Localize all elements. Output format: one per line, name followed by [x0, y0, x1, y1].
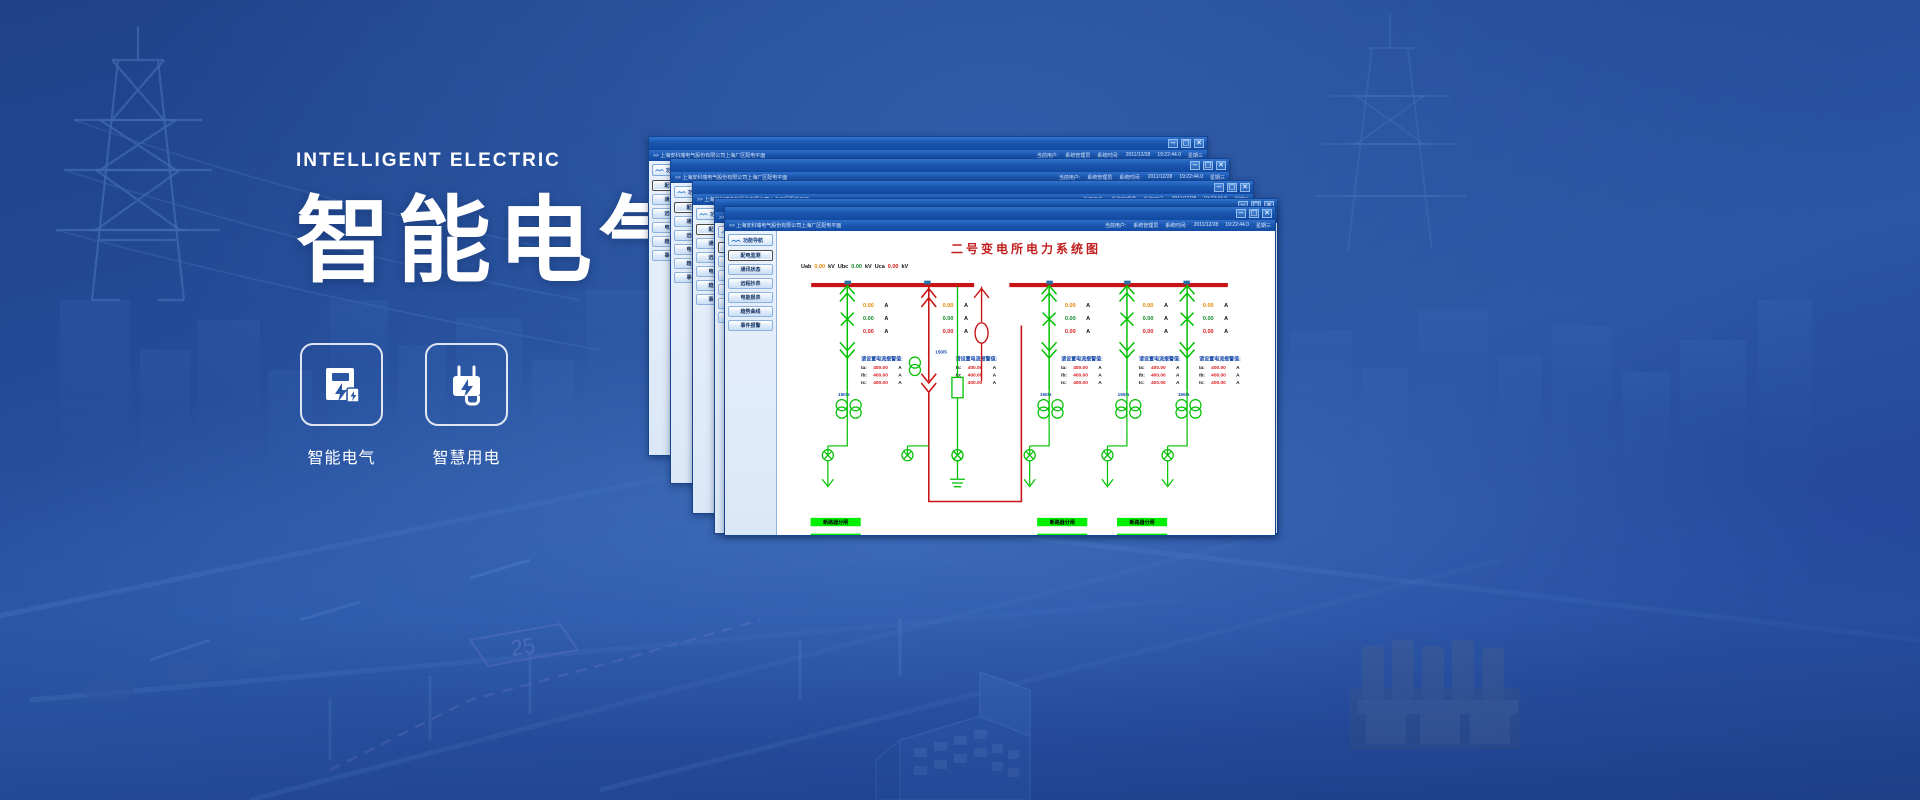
svg-text:A: A	[1176, 365, 1180, 371]
svg-text:Ic:: Ic:	[1061, 380, 1067, 386]
svg-text:0.00: 0.00	[863, 303, 874, 309]
svg-text:400.00: 400.00	[1151, 380, 1166, 386]
svg-text:0.00: 0.00	[943, 316, 954, 322]
svg-text:400.00: 400.00	[1073, 380, 1088, 386]
book-icon	[699, 210, 708, 218]
ubc-label: Ubc	[838, 264, 848, 270]
ubc-unit: kV	[865, 264, 872, 270]
svg-text:Ic:: Ic:	[861, 380, 867, 386]
diagram-title: 二号变电所电力系统图	[777, 240, 1275, 257]
uca-unit: kV	[902, 264, 909, 270]
window-body: >> 上海安科瑞电气股份有限公司上海厂区配电平面 当前用户: 系统管理员 系统时…	[725, 220, 1275, 535]
svg-text:A: A	[1236, 365, 1240, 371]
svg-text:400.00: 400.00	[1211, 380, 1226, 386]
svg-text:请设置电流报警值:: 请设置电流报警值:	[1139, 356, 1181, 363]
svg-text:A: A	[964, 303, 968, 309]
svg-text:A: A	[1224, 316, 1228, 322]
svg-text:0.00: 0.00	[1143, 316, 1154, 322]
svg-text:A: A	[964, 329, 968, 335]
window-titlebar[interactable]: − □ ✕	[671, 159, 1229, 172]
close-icon[interactable]: ✕	[1240, 183, 1250, 192]
svg-text:0.00: 0.00	[863, 329, 874, 335]
uca-label: Uca	[875, 264, 885, 270]
uca-value: 0.00	[888, 264, 899, 270]
sidebar: 功能导航 配电监测 通讯状态 远程抄表 电能报表 趋势曲线 事件报警	[725, 231, 777, 535]
maximize-icon[interactable]: □	[1227, 183, 1237, 192]
svg-text:A: A	[964, 316, 968, 322]
svg-text:Ia:: Ia:	[861, 365, 867, 371]
sidebar-item-event-alarm[interactable]: 事件报警	[728, 320, 773, 331]
svg-text:A: A	[1098, 365, 1102, 371]
svg-text:A: A	[1236, 380, 1240, 386]
svg-text:Ib:: Ib:	[1199, 372, 1205, 378]
svg-text:A: A	[1176, 372, 1180, 378]
sidebar-item-energy-report[interactable]: 电能报表	[728, 292, 773, 303]
svg-text:A: A	[884, 303, 888, 309]
feature-label: 智慧用电	[425, 444, 508, 468]
svg-text:Ia:: Ia:	[1139, 365, 1145, 371]
svg-text:请设置电流报警值:: 请设置电流报警值:	[1061, 356, 1103, 363]
svg-text:400.00: 400.00	[873, 380, 888, 386]
svg-text:Ic:: Ic:	[1199, 380, 1205, 386]
minimize-icon[interactable]: −	[1214, 183, 1224, 192]
status-user-value: 系统管理员	[1133, 222, 1158, 229]
svg-text:400.00: 400.00	[1073, 372, 1088, 378]
power-plug-icon	[443, 361, 491, 409]
application-window-stack: − □ ✕ >> 上海安科瑞电气股份有限公司上海厂区配电平面 当前用户: 系统管…	[648, 136, 1288, 536]
svg-text:400.00: 400.00	[968, 365, 983, 371]
feature-item-smart-power[interactable]: 智慧用电	[425, 343, 508, 468]
svg-text:A: A	[1164, 316, 1168, 322]
status-time: 19:22:44.0	[1225, 222, 1249, 229]
svg-text:150/5: 150/5	[1178, 392, 1190, 397]
svg-text:A: A	[1176, 380, 1180, 386]
book-icon	[677, 188, 686, 196]
svg-text:A: A	[1164, 303, 1168, 309]
svg-text:请设置电流报警值:: 请设置电流报警值:	[1199, 356, 1241, 363]
svg-text:0.00: 0.00	[1203, 316, 1214, 322]
close-icon[interactable]: ✕	[1262, 209, 1272, 218]
svg-text:断路器分闸: 断路器分闸	[1050, 519, 1075, 526]
book-icon	[731, 236, 741, 245]
sidebar-item-trend-curve[interactable]: 趋势曲线	[728, 306, 773, 317]
svg-text:A: A	[1098, 380, 1102, 386]
status-user-label: 当前用户:	[1105, 222, 1126, 229]
svg-text:400.00: 400.00	[873, 365, 888, 371]
svg-text:400.00: 400.00	[1151, 365, 1166, 371]
uab-unit: kV	[828, 264, 835, 270]
svg-text:0.00: 0.00	[1203, 303, 1214, 309]
svg-text:150/5: 150/5	[1040, 392, 1052, 397]
svg-text:A: A	[884, 329, 888, 335]
svg-text:A: A	[1224, 303, 1228, 309]
status-time-label: 系统时间:	[1165, 222, 1186, 229]
sidebar-item-remote-meter[interactable]: 远程抄表	[728, 278, 773, 289]
svg-text:Ia:: Ia:	[1061, 365, 1067, 371]
window-titlebar[interactable]: − □ ✕	[693, 181, 1253, 194]
svg-text:400.00: 400.00	[873, 372, 888, 378]
svg-text:A: A	[1086, 303, 1090, 309]
window-inner: 功能导航 配电监测 通讯状态 远程抄表 电能报表 趋势曲线 事件报警	[725, 231, 1275, 535]
feature-icon-box	[425, 343, 508, 426]
window-titlebar[interactable]: − □ ✕	[649, 137, 1207, 150]
svg-text:A: A	[1164, 329, 1168, 335]
svg-text:Ib:: Ib:	[1061, 372, 1067, 378]
svg-text:150/5: 150/5	[1118, 392, 1130, 397]
minimize-icon[interactable]: −	[1236, 209, 1246, 218]
close-icon[interactable]: ✕	[1216, 161, 1226, 170]
sidebar-item-power-monitor[interactable]: 配电监测	[728, 250, 773, 261]
book-icon	[655, 166, 664, 174]
svg-text:Ia:: Ia:	[956, 365, 962, 371]
svg-text:0.00: 0.00	[1065, 329, 1076, 335]
svg-text:A: A	[898, 380, 902, 386]
svg-text:400.00: 400.00	[968, 372, 983, 378]
uab-label: Uab	[801, 264, 811, 270]
status-left-text: >> 上海安科瑞电气股份有限公司上海厂区配电平面	[729, 222, 841, 229]
feature-item-intelligent-electric[interactable]: 智能电气	[300, 343, 383, 468]
svg-text:A: A	[993, 380, 997, 386]
svg-text:0.00: 0.00	[1203, 329, 1214, 335]
svg-text:0.00: 0.00	[943, 329, 954, 335]
maximize-icon[interactable]: □	[1249, 209, 1259, 218]
svg-text:A: A	[898, 365, 902, 371]
svg-text:0.00: 0.00	[1065, 303, 1076, 309]
svg-text:A: A	[1236, 372, 1240, 378]
svg-text:A: A	[1086, 329, 1090, 335]
svg-text:Ia:: Ia:	[1199, 365, 1205, 371]
svg-text:150/5: 150/5	[838, 392, 850, 397]
app-window-active[interactable]: − □ ✕ >> 上海安科瑞电气股份有限公司上海厂区配电平面 当前用户: 系统管…	[724, 206, 1276, 536]
feature-icon-box	[300, 343, 383, 426]
svg-text:请设置电流报警值:: 请设置电流报警值:	[956, 356, 998, 363]
svg-text:A: A	[993, 365, 997, 371]
svg-text:0.00: 0.00	[863, 316, 874, 322]
status-weekday: 星期三	[1256, 222, 1271, 229]
svg-text:400.00: 400.00	[968, 380, 983, 386]
nav-list: 配电监测 通讯状态 远程抄表 电能报表 趋势曲线 事件报警	[728, 250, 773, 331]
electric-meter-icon	[318, 361, 366, 409]
window-statusbar: >> 上海安科瑞电气股份有限公司上海厂区配电平面 当前用户: 系统管理员 系统时…	[725, 220, 1275, 231]
window-titlebar[interactable]: − □ ✕	[725, 207, 1275, 220]
svg-text:A: A	[898, 372, 902, 378]
svg-text:400.00: 400.00	[1151, 372, 1166, 378]
uab-value: 0.00	[814, 264, 825, 270]
status-right-group: 当前用户: 系统管理员 系统时间: 2011/12/28 19:22:44.0 …	[1105, 222, 1271, 229]
close-icon[interactable]: ✕	[1194, 139, 1204, 148]
svg-text:Ic:: Ic:	[1139, 380, 1145, 386]
svg-text:0.00: 0.00	[943, 303, 954, 309]
sidebar-item-comm-status[interactable]: 通讯状态	[728, 264, 773, 275]
nav-header-label: 功能导航	[743, 237, 763, 244]
svg-text:A: A	[1224, 329, 1228, 335]
maximize-icon[interactable]: □	[1203, 161, 1213, 170]
status-button-group[interactable]: 断路器分闸 手车试验位置 弹簧已储能 断路器分闸 手车试验位置 弹簧	[777, 516, 1275, 535]
ubc-value: 0.00	[851, 264, 862, 270]
feature-label: 智能电气	[300, 444, 383, 468]
svg-text:断路器分闸: 断路器分闸	[1130, 519, 1155, 526]
maximize-icon[interactable]: □	[1181, 139, 1191, 148]
svg-text:0.00: 0.00	[1143, 329, 1154, 335]
sld-drawing: 0.00 A 0.00 A 0.00 A 请设置电流报警值: Ia: 400.0…	[777, 270, 1275, 520]
svg-text:0.00: 0.00	[1143, 303, 1154, 309]
svg-text:断路器分闸: 断路器分闸	[823, 519, 848, 526]
svg-text:400.00: 400.00	[1073, 365, 1088, 371]
svg-text:A: A	[1098, 372, 1102, 378]
minimize-icon[interactable]: −	[1190, 161, 1200, 170]
status-date: 2011/12/28	[1194, 222, 1219, 229]
hero-banner: 25	[0, 0, 1920, 800]
svg-text:400.00: 400.00	[1211, 372, 1226, 378]
nav-header: 功能导航	[728, 234, 773, 246]
svg-text:A: A	[993, 372, 997, 378]
minimize-icon[interactable]: −	[1168, 139, 1178, 148]
feature-list: 智能电气 智慧用电	[300, 343, 508, 468]
svg-text:请设置电流报警值:: 请设置电流报警值:	[861, 356, 903, 363]
svg-text:Ib:: Ib:	[861, 372, 867, 378]
svg-text:A: A	[1086, 316, 1090, 322]
single-line-diagram-canvas[interactable]: 二号变电所电力系统图 Uab 0.00 kV Ubc 0.00 kV Uca 0…	[777, 231, 1275, 535]
svg-text:0.00: 0.00	[1065, 316, 1076, 322]
svg-text:150/5: 150/5	[935, 349, 947, 354]
svg-text:Ib:: Ib:	[1139, 372, 1145, 378]
svg-text:400.00: 400.00	[1211, 365, 1226, 371]
svg-text:A: A	[884, 316, 888, 322]
